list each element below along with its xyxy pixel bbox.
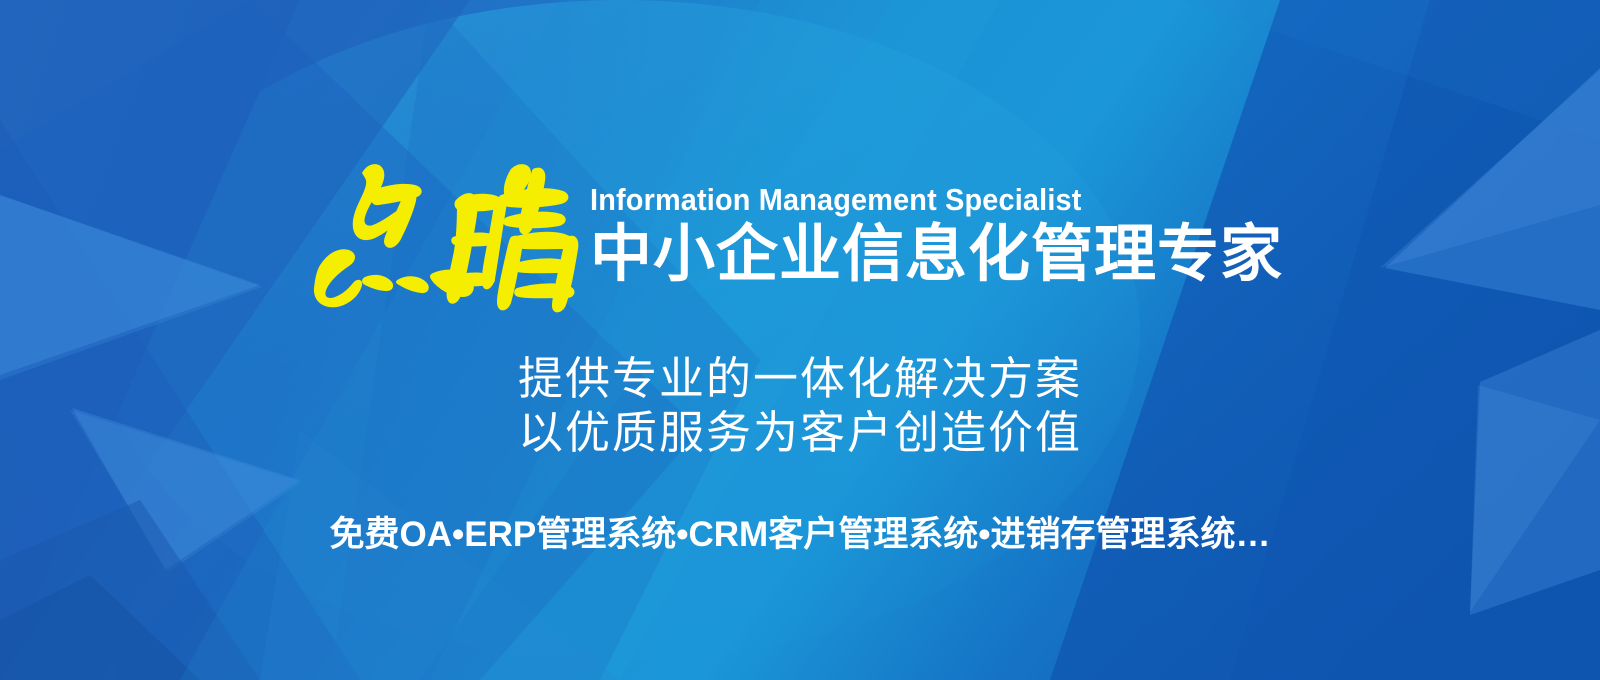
slogan-line-2: 以优质服务为客户创造价值 [0, 406, 1600, 460]
brand-logo-text: 点睛 [305, 155, 580, 320]
brand-logo-dianjing: 点睛 [305, 155, 580, 320]
headline-block: Information Management Specialist 中小企业信息… [590, 182, 1290, 290]
slogan-line-1: 提供专业的一体化解决方案 [0, 352, 1600, 406]
banner-content: 点睛 Information Management Specialist 中小企… [0, 0, 1600, 680]
product-list-line: 免费OA•ERP管理系统•CRM客户管理系统•进销存管理系统… [0, 512, 1600, 558]
tagline-english: Information Management Specialist [590, 182, 1241, 218]
slogan-block: 提供专业的一体化解决方案 以优质服务为客户创造价值 [0, 352, 1600, 460]
headline-chinese: 中小企业信息化管理专家 [590, 220, 1290, 290]
promo-banner: 点睛 Information Management Specialist 中小企… [0, 0, 1600, 680]
